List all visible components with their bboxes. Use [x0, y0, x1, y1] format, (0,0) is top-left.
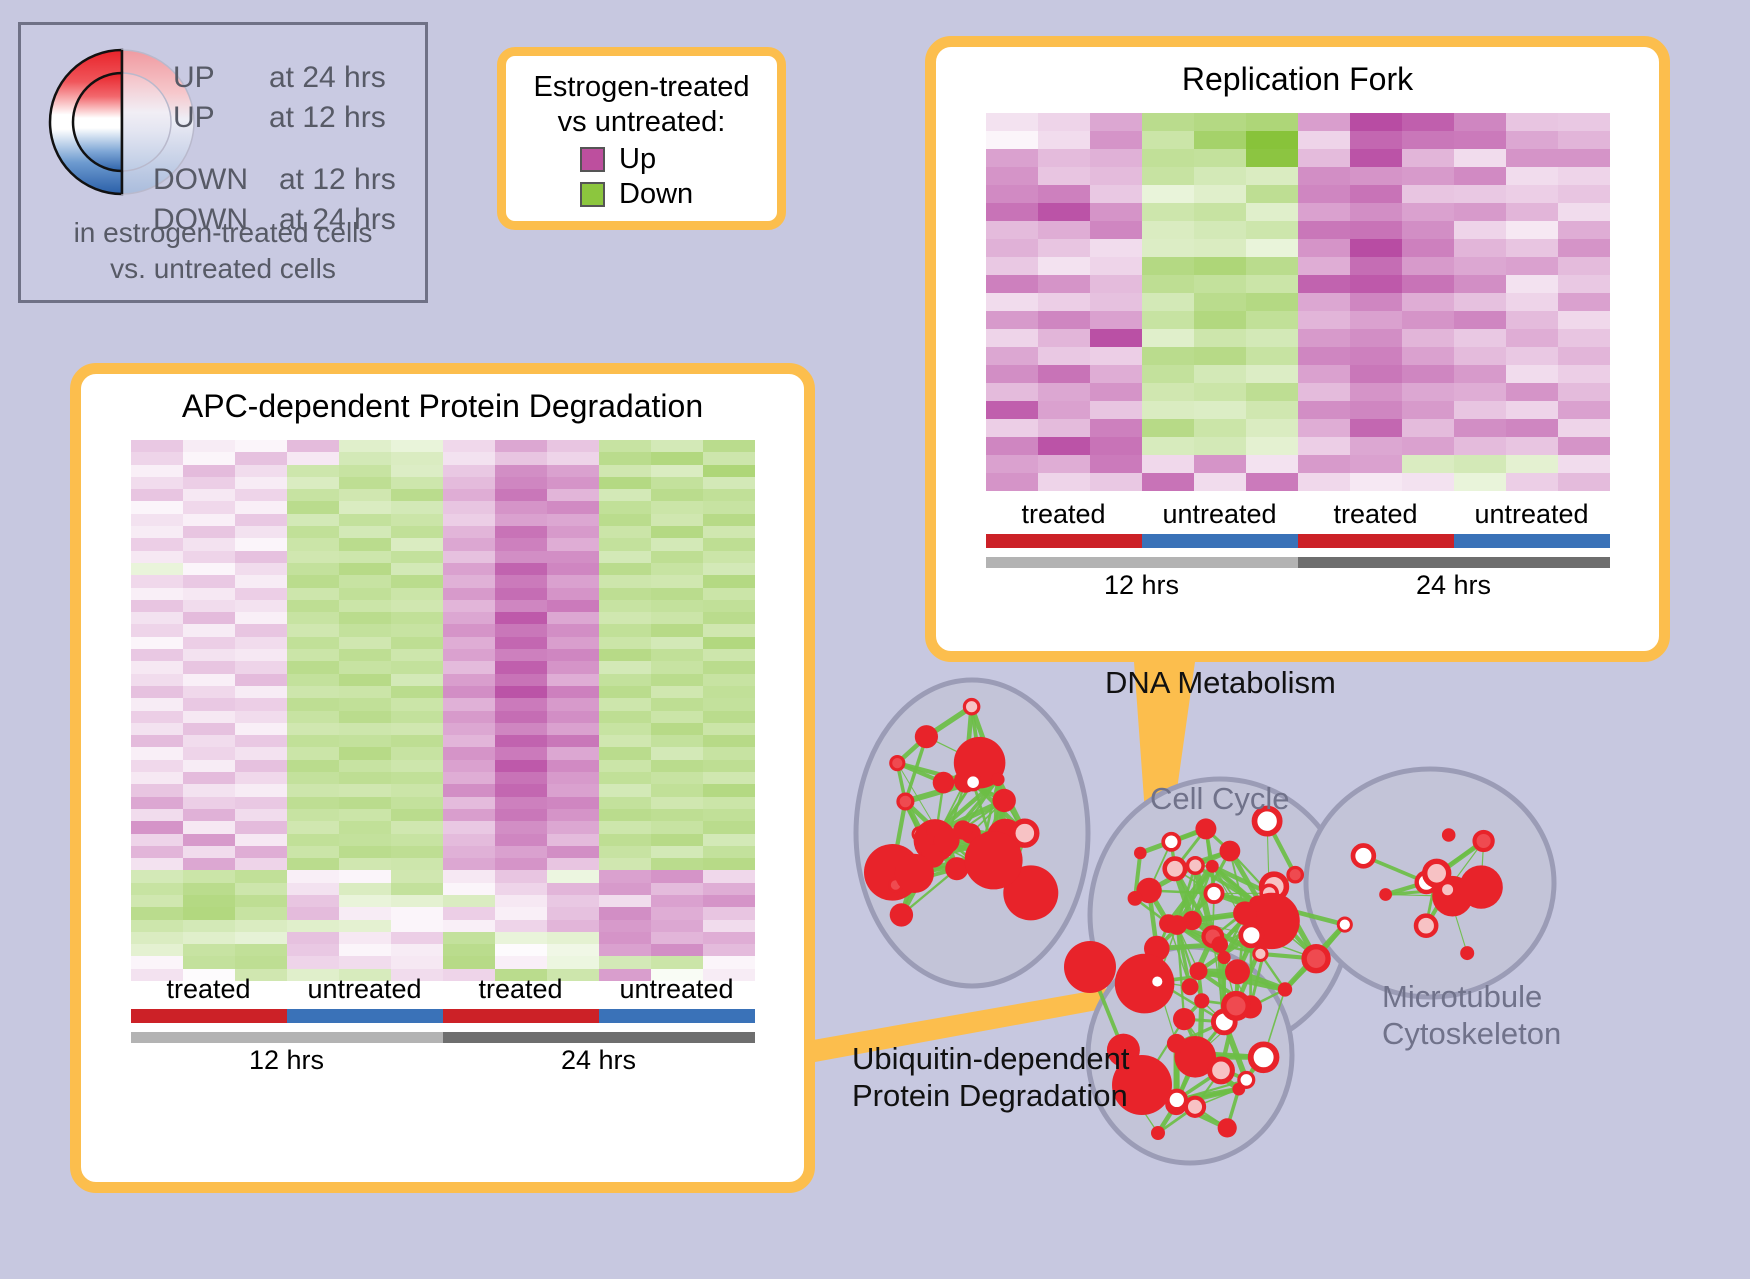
network-node[interactable] — [964, 700, 978, 714]
time-bar-segment-1 — [443, 1032, 755, 1043]
network-node[interactable] — [1165, 859, 1185, 879]
time-bar-apc — [131, 1032, 755, 1043]
column-label-0: treated — [131, 974, 287, 1005]
time-bar-replication-fork — [986, 557, 1610, 568]
network-node[interactable] — [933, 772, 955, 794]
time-label-0: 12 hrs — [131, 1045, 443, 1076]
network-node[interactable] — [1288, 868, 1302, 882]
network-node[interactable] — [965, 831, 1023, 889]
network-node[interactable] — [1304, 947, 1328, 971]
network-node[interactable] — [1115, 954, 1175, 1014]
cluster-label-ubiquitin: Ubiquitin-dependent Protein Degradation — [852, 1040, 1130, 1114]
network-node[interactable] — [1194, 993, 1209, 1008]
network-node[interactable] — [1134, 847, 1147, 860]
network-node[interactable] — [1128, 891, 1143, 906]
network-node[interactable] — [1151, 975, 1164, 988]
time-label-0: 12 hrs — [986, 570, 1298, 601]
group-bar-segment-3 — [599, 1009, 755, 1023]
time-label-1: 24 hrs — [443, 1045, 755, 1076]
network-node[interactable] — [1416, 916, 1436, 936]
cluster-label-microtubule: Microtubule Cytoskeleton — [1382, 978, 1561, 1052]
cluster-label-cell-cycle: Cell Cycle — [1150, 781, 1290, 817]
network-node[interactable] — [1254, 947, 1267, 960]
network-node[interactable] — [1182, 978, 1199, 995]
column-label-1: untreated — [1142, 499, 1298, 530]
group-bar-segment-2 — [443, 1009, 599, 1023]
network-node[interactable] — [1195, 818, 1216, 839]
time-labels-apc: 12 hrs24 hrs — [131, 1045, 755, 1076]
cluster-label-ubiquitin-line2: Protein Degradation — [852, 1077, 1130, 1114]
group-bar-replication-fork — [986, 534, 1610, 548]
network-node[interactable] — [915, 725, 938, 748]
panel-title-apc: APC-dependent Protein Degradation — [81, 374, 804, 425]
network-node[interactable] — [1206, 860, 1219, 873]
group-bar-segment-1 — [287, 1009, 443, 1023]
network-node[interactable] — [1460, 946, 1474, 960]
group-bar-segment-0 — [131, 1009, 287, 1023]
network-node[interactable] — [1338, 918, 1351, 931]
network-node[interactable] — [1013, 821, 1037, 845]
time-bar-segment-0 — [986, 557, 1298, 568]
cluster-label-microtubule-line1: Microtubule — [1382, 978, 1561, 1015]
network-node[interactable] — [991, 773, 1004, 786]
heatmap-replication-fork — [986, 113, 1610, 491]
network-node[interactable] — [934, 828, 960, 854]
cluster-label-ubiquitin-line1: Ubiquitin-dependent — [852, 1040, 1130, 1077]
network-node[interactable] — [1210, 1059, 1233, 1082]
network-node[interactable] — [1205, 885, 1222, 902]
network-node[interactable] — [1211, 936, 1228, 953]
time-label-1: 24 hrs — [1298, 570, 1610, 601]
network-node[interactable] — [891, 757, 904, 770]
network-node[interactable] — [1278, 982, 1292, 996]
network-node[interactable] — [1353, 846, 1374, 867]
network-node[interactable] — [1151, 1126, 1165, 1140]
network-node[interactable] — [1475, 832, 1493, 850]
column-label-2: treated — [443, 974, 599, 1005]
network-node[interactable] — [1167, 1034, 1186, 1053]
network-diagram — [790, 615, 1750, 1279]
column-label-3: untreated — [1454, 499, 1610, 530]
network-node[interactable] — [966, 775, 981, 790]
network-node[interactable] — [993, 789, 1016, 812]
network-node[interactable] — [1220, 841, 1241, 862]
network-node[interactable] — [1167, 915, 1187, 935]
network-node[interactable] — [898, 794, 913, 809]
time-labels-replication-fork: 12 hrs24 hrs — [986, 570, 1610, 601]
network-node[interactable] — [1064, 941, 1116, 993]
network-node[interactable] — [1251, 1044, 1277, 1070]
network-node[interactable] — [1442, 828, 1456, 842]
network-node[interactable] — [1218, 1118, 1237, 1137]
network-node[interactable] — [1186, 1098, 1204, 1116]
panel-apc-degradation: APC-dependent Protein Degradation treate… — [70, 363, 815, 1193]
group-bar-apc — [131, 1009, 755, 1023]
network-node[interactable] — [1233, 901, 1257, 925]
network-node[interactable] — [1190, 962, 1208, 980]
network-node[interactable] — [890, 903, 913, 926]
time-bar-segment-0 — [131, 1032, 443, 1043]
network-node[interactable] — [1241, 925, 1262, 946]
group-bar-segment-3 — [1454, 534, 1610, 548]
network-node[interactable] — [1225, 959, 1250, 984]
heatmap-apc — [131, 440, 755, 981]
network-node[interactable] — [1224, 994, 1249, 1019]
column-labels-apc: treateduntreatedtreateduntreated — [131, 974, 755, 1005]
column-label-1: untreated — [287, 974, 443, 1005]
cluster-label-dna-metabolism: DNA Metabolism — [1105, 665, 1336, 701]
network-node[interactable] — [1188, 858, 1204, 874]
network-node[interactable] — [1239, 1073, 1254, 1088]
cluster-label-microtubule-line2: Cytoskeleton — [1382, 1015, 1561, 1052]
column-label-2: treated — [1298, 499, 1454, 530]
column-label-3: untreated — [599, 974, 755, 1005]
network-node[interactable] — [1441, 883, 1455, 897]
group-bar-segment-0 — [986, 534, 1142, 548]
group-bar-segment-2 — [1298, 534, 1454, 548]
network-node[interactable] — [1173, 1008, 1195, 1030]
column-labels-replication-fork: treateduntreatedtreateduntreated — [986, 499, 1610, 530]
panel-replication-fork: Replication Fork treateduntreatedtreated… — [925, 36, 1670, 662]
network-node[interactable] — [1379, 888, 1392, 901]
network-node[interactable] — [1163, 834, 1179, 850]
group-bar-segment-1 — [1142, 534, 1298, 548]
panel-title-replication-fork: Replication Fork — [936, 47, 1659, 98]
time-bar-segment-1 — [1298, 557, 1610, 568]
column-label-0: treated — [986, 499, 1142, 530]
network-node[interactable] — [895, 854, 934, 893]
network-node[interactable] — [1459, 865, 1502, 908]
figure-canvas: UP at 24 hrs UP at 12 hrs DOWN at 12 hrs… — [0, 0, 1750, 1279]
